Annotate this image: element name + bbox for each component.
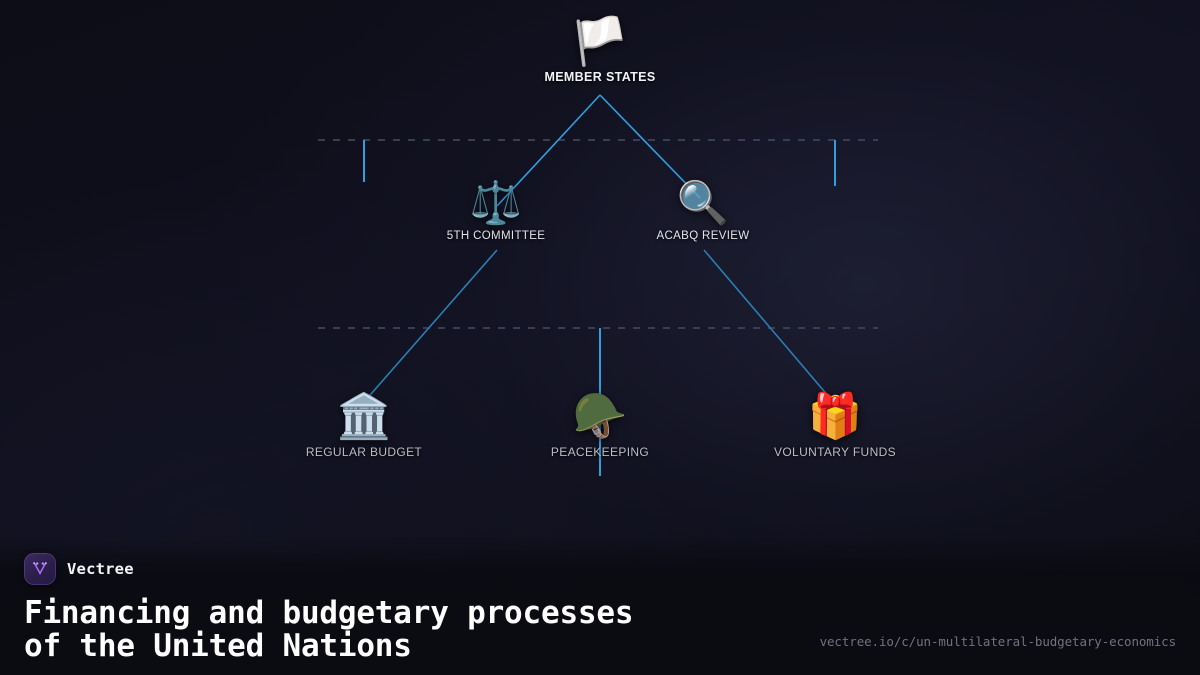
node-regular-budget[interactable]: 🏛️ REGULAR BUDGET: [249, 395, 479, 459]
page-title: Financing and budgetary processes of the…: [24, 597, 633, 663]
node-5th-committee[interactable]: ⚖️ 5TH COMMITTEE: [381, 182, 611, 242]
page-title-line-1: Financing and budgetary processes: [24, 597, 633, 630]
brand[interactable]: Vectree: [24, 553, 134, 585]
gift-box-icon: 🎁: [808, 395, 863, 439]
brand-name: Vectree: [67, 560, 134, 578]
permalink-url[interactable]: vectree.io/c/un-multilateral-budgetary-e…: [820, 634, 1176, 649]
node-voluntary-funds[interactable]: 🎁 VOLUNTARY FUNDS: [720, 395, 950, 459]
edge-5th-committee-to-regular-budget: [364, 250, 497, 402]
balance-scale-icon: ⚖️: [470, 182, 522, 224]
node-member-states[interactable]: 🏳️ MEMBER STATES: [485, 18, 715, 84]
diagram-canvas: 🏳️ MEMBER STATES ⚖️ 5TH COMMITTEE 🔍 ACAB…: [0, 0, 1200, 675]
white-flag-icon: 🏳️: [571, 18, 628, 64]
magnifying-glass-icon: 🔍: [677, 182, 729, 224]
node-label-regular-budget: REGULAR BUDGET: [306, 445, 422, 459]
node-acabq-review[interactable]: 🔍 ACABQ REVIEW: [588, 182, 818, 242]
page-title-line-2: of the United Nations: [24, 630, 633, 663]
node-label-acabq-review: ACABQ REVIEW: [656, 230, 749, 242]
vectree-sprout-logo-icon: [24, 553, 56, 585]
node-label-member-states: MEMBER STATES: [544, 70, 655, 84]
node-label-voluntary-funds: VOLUNTARY FUNDS: [774, 445, 896, 459]
node-peacekeeping[interactable]: 🪖 PEACEKEEPING: [485, 395, 715, 459]
node-label-5th-committee: 5TH COMMITTEE: [447, 230, 545, 242]
classical-building-icon: 🏛️: [337, 395, 392, 439]
military-helmet-icon: 🪖: [573, 395, 628, 439]
footer-bar: Vectree Financing and budgetary processe…: [0, 535, 1200, 675]
node-label-peacekeeping: PEACEKEEPING: [551, 445, 649, 459]
